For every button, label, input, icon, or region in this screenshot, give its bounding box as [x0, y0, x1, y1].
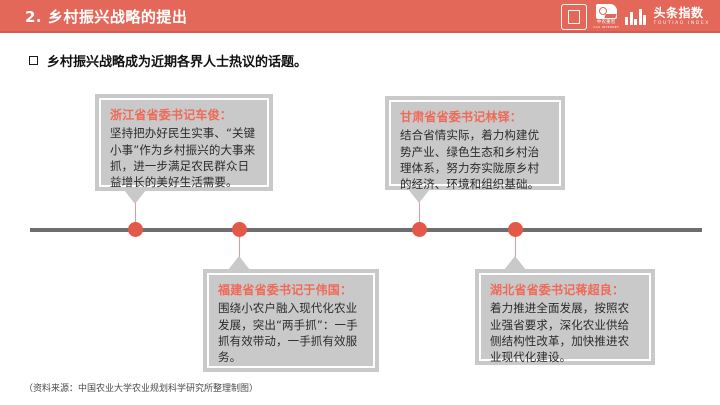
callout-fujian-title: 福建省省委书记于伟国： — [218, 282, 364, 298]
callout-fujian-body: 围绕小农户融入现代化农业发展，突出“两手抓”：一手抓有效带动，一手抓有效服务。 — [218, 300, 364, 365]
university-seal-icon — [561, 4, 587, 30]
callout-hubei-title: 湖北省省委书记蒋超良： — [490, 282, 640, 298]
timeline-dot-gansu[interactable] — [412, 222, 427, 237]
callout-zhejiang-tail — [124, 190, 146, 204]
callout-fujian-inner: 福建省省委书记于伟国： 围绕小农户融入现代化农业发展，突出“两手抓”：一手抓有效… — [207, 273, 375, 368]
toutiao-logo-cn: 头条指数 — [653, 7, 710, 19]
timeline-dot-fujian[interactable] — [232, 222, 247, 237]
page-title: 2. 乡村振兴战略的提出 — [25, 6, 187, 27]
toutiao-logo-en: TOUTIAO INDEX — [653, 22, 710, 27]
callout-fujian[interactable]: 福建省省委书记于伟国： 围绕小农户融入现代化农业发展，突出“两手抓”：一手抓有效… — [203, 269, 379, 372]
callout-gansu-inner: 甘肃省省委书记林铎： 结合省情实际，着力构建优势产业、绿色生态和乡村治理体系，努… — [389, 100, 561, 186]
callout-hubei[interactable]: 湖北省省委书记蒋超良： 着力推进全面发展，按照农业强省要求，深化农业供给侧结构性… — [475, 269, 655, 365]
subtitle-text: 乡村振兴战略成为近期各界人士热议的话题。 — [47, 51, 307, 70]
subtitle-row: 乡村振兴战略成为近期各界人士热议的话题。 — [29, 51, 307, 70]
callout-fujian-tail — [228, 256, 250, 270]
timeline-dot-zhejiang[interactable] — [128, 222, 143, 237]
callout-zhejiang-inner: 浙江省省委书记车俊： 坚持把办好民生实事、“关键小事”作为乡村振兴的大事来抓，进… — [99, 98, 269, 187]
callout-gansu-body: 结合省情实际，着力构建优势产业、绿色生态和乡村治理体系，努力夯实陇原乡村的经济、… — [400, 127, 550, 192]
callout-gansu[interactable]: 甘肃省省委书记林铎： 结合省情实际，着力构建优势产业、绿色生态和乡村治理体系，努… — [385, 96, 565, 190]
callout-hubei-inner: 湖北省省委书记蒋超良： 着力推进全面发展，按照农业强省要求，深化农业供给侧结构性… — [479, 273, 651, 361]
university-logo: 中农重智 CAU INTERNET — [593, 4, 619, 29]
square-bullet-icon — [29, 56, 38, 65]
logo-cluster: 中农重智 CAU INTERNET 头条指数 TOUTIAO INDEX — [561, 3, 710, 30]
callout-zhejiang[interactable]: 浙江省省委书记车俊： 坚持把办好民生实事、“关键小事”作为乡村振兴的大事来抓，进… — [95, 94, 273, 191]
callout-hubei-body: 着力推进全面发展，按照农业强省要求，深化农业供给侧结构性改革，加快推进农业现代化… — [490, 300, 640, 365]
callout-zhejiang-title: 浙江省省委书记车俊： — [110, 107, 258, 123]
callout-hubei-tail — [504, 256, 526, 270]
callout-gansu-tail — [408, 189, 430, 203]
callout-zhejiang-body: 坚持把办好民生实事、“关键小事”作为乡村振兴的大事来抓，进一步满足农民群众日益增… — [110, 125, 258, 190]
header-band: 2. 乡村振兴战略的提出 中农重智 CAU INTERNET 头条指数 TOUT… — [0, 0, 720, 33]
university-logo-en: CAU INTERNET — [593, 26, 619, 29]
toutiao-index-logo: 头条指数 TOUTIAO INDEX — [653, 7, 710, 26]
bar-chart-icon — [625, 8, 646, 25]
timeline-dot-hubei[interactable] — [508, 222, 523, 237]
source-note: （资料来源：中国农业大学农业规划科学研究所整理制图） — [24, 381, 258, 394]
callout-gansu-title: 甘肃省省委书记林铎： — [400, 109, 550, 125]
university-mark-icon — [596, 4, 617, 19]
